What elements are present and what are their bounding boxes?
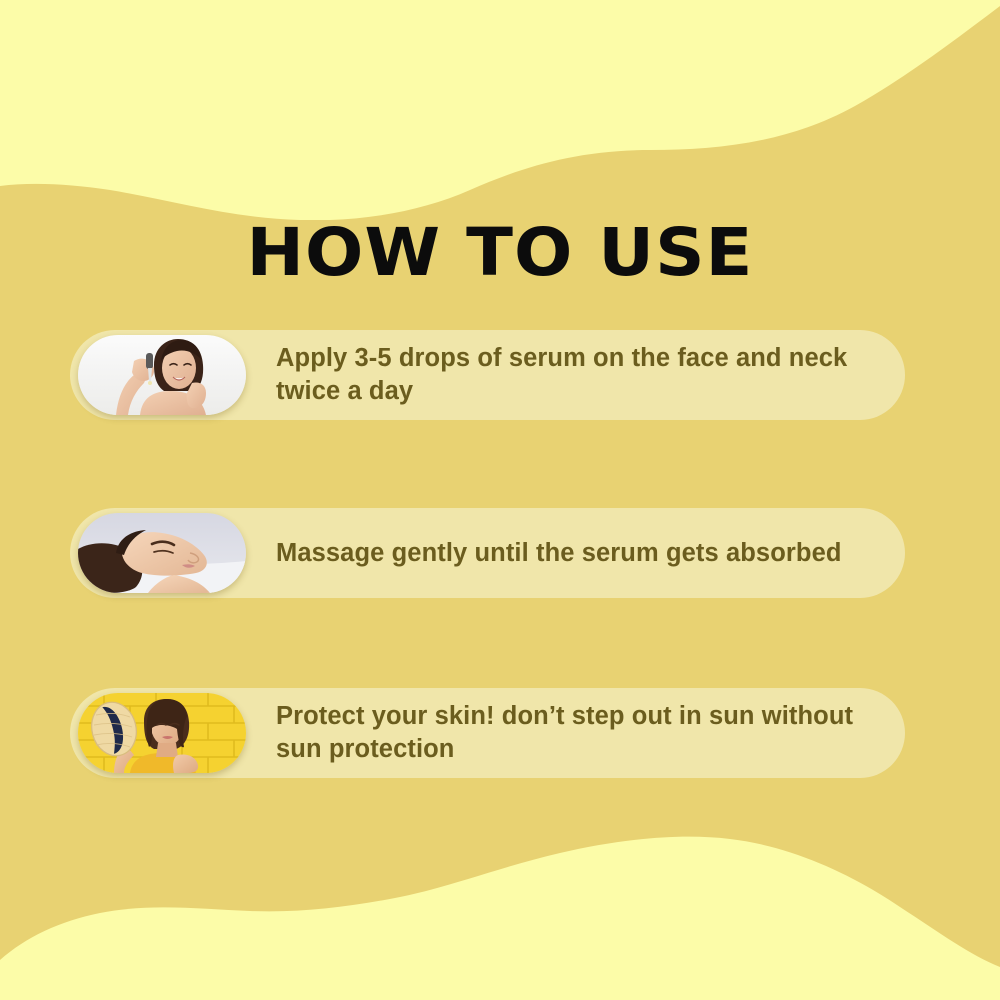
step-card-1: Apply 3-5 drops of serum on the face and… — [70, 330, 905, 420]
step-card-2: Massage gently until the serum gets abso… — [70, 508, 905, 598]
step-text-3: Protect your skin! don’t step out in sun… — [276, 700, 871, 765]
woman-lying-down-facial-massage-photo — [78, 513, 246, 593]
woman-straw-hat-yellow-wall-photo — [78, 693, 246, 773]
step-card-3: Protect your skin! don’t step out in sun… — [70, 688, 905, 778]
step-text-1: Apply 3-5 drops of serum on the face and… — [276, 342, 871, 407]
step-text-2: Massage gently until the serum gets abso… — [276, 537, 871, 570]
woman-applying-serum-dropper-photo — [78, 335, 246, 415]
how-to-use-steps-list: Apply 3-5 drops of serum on the face and… — [0, 0, 1000, 1000]
